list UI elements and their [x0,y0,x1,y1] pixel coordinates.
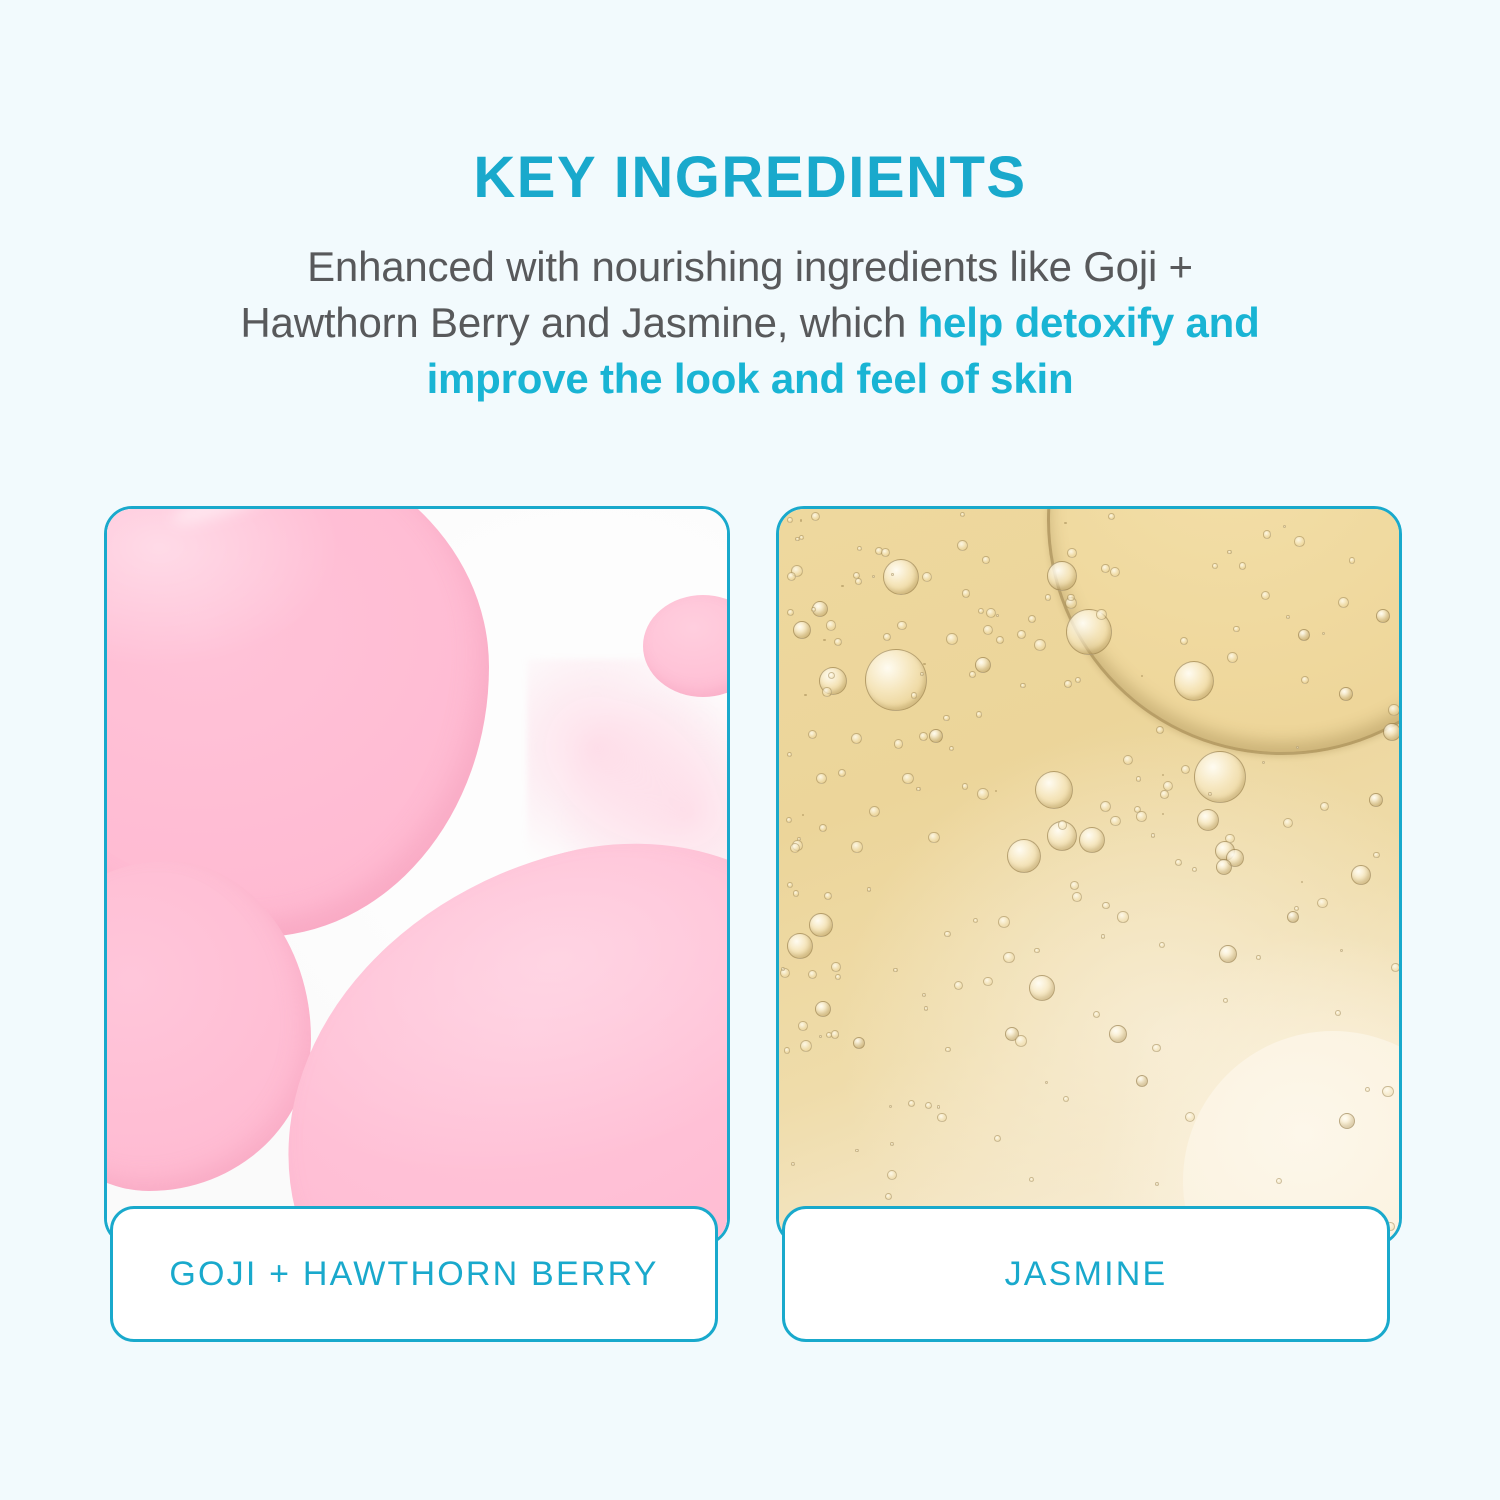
oil-bubble [1339,687,1353,701]
oil-bubble [1383,723,1399,741]
oil-bubble-micro [1100,801,1111,812]
oil-bubble-micro [894,739,904,749]
oil-bubble [1197,809,1219,831]
oil-bubble-micro [1067,594,1074,601]
oil-bubble-micro [977,788,989,800]
oil-bubble-micro [1070,881,1079,890]
ingredient-label-text: JASMINE [1005,1255,1168,1294]
oil-bubble-micro [831,962,841,972]
oil-bubble-micro [1017,630,1026,639]
oil-bubble-micro [919,732,928,741]
oil-bubble-micro [973,918,979,924]
oil-bubble-micro [928,832,939,843]
oil-bubble-micro [1286,615,1290,619]
oil-bubble [1369,793,1383,807]
oil-bubble-micro [944,931,951,938]
jasmine-image [779,509,1399,1243]
oil-bubble-micro [798,1021,808,1031]
oil-bubble-micro [1320,802,1329,811]
oil-bubble-micro [811,512,820,521]
oil-bubble-micro [1102,902,1110,910]
oil-bubble-micro [851,841,863,853]
oil-bubble-micro [1225,834,1235,844]
oil-bubble [1029,975,1055,1001]
oil-bubble-micro [893,968,898,973]
ingredient-card-jasmine[interactable] [776,506,1402,1246]
oil-bubble-micro [983,625,993,635]
subtitle: Enhanced with nourishing ingredients lik… [170,209,1330,407]
oil-bubble-micro [1117,911,1129,923]
oil-bubble-micro [1003,952,1015,964]
oil-bubble-micro [811,607,816,612]
oil-bubble [1287,911,1299,923]
goji-hawthorn-berry-image [107,509,727,1243]
oil-bubble-micro [1064,522,1066,524]
oil-bubble-micro [1335,1010,1341,1016]
oil-bubble-micro [841,585,843,587]
oil-bubble [1219,945,1237,963]
oil-bubble-micro [982,556,989,563]
oil-bubble-micro [784,1047,791,1054]
oil-bubble-micro [925,1102,932,1109]
oil-bubble-micro [790,843,800,853]
oil-bubble-micro [1391,963,1399,972]
oil-bubble [865,649,927,711]
oil-bubble-micro [908,1100,915,1107]
key-ingredients-panel: KEY INGREDIENTS Enhanced with nourishing… [0,0,1500,1500]
oil-bubble-micro [1151,833,1156,838]
oil-bubble-micro [1296,746,1299,749]
oil-bubble-micro [1388,704,1399,716]
oil-bubble-micro [1227,550,1232,555]
oil-bubble [1298,629,1310,641]
oil-bubble-micro [969,671,976,678]
oil-bubble [975,657,991,673]
oil-bubble [1079,827,1105,853]
oil-bubble-micro [786,817,792,823]
oil-bubble [1174,661,1214,701]
oil-bubble [809,913,833,937]
oil-bubble-micro [976,711,983,718]
oil-bubble-micro [1096,609,1107,620]
oil-bubble-micro [791,1162,795,1166]
oil-bubble-micro [946,633,958,645]
oil-bubble-micro [1067,548,1077,558]
header: KEY INGREDIENTS Enhanced with nourishing… [0,0,1500,406]
oil-bubble [1047,561,1077,591]
oil-bubble-micro [819,1035,822,1038]
oil-bubble [1376,609,1390,623]
oil-bubble-micro [996,614,999,617]
oil-bubble-micro [1160,790,1169,799]
oil-bubble [853,1037,865,1049]
oil-bubble-micro [983,977,993,987]
oil-bubble-micro [1294,906,1299,911]
oil-bubble [1007,839,1041,873]
oil-bubble-micro [1034,639,1046,651]
oil-bubble-micro [1110,567,1120,577]
oil-bubble-micro [800,519,803,522]
oil-bubble-micro [1185,1112,1195,1122]
oil-bubble-micro [1233,626,1240,633]
oil-bubble [815,1001,831,1017]
oil-bubble-micro [945,1047,951,1053]
oil-bubble [1136,1075,1148,1087]
oil-bubble-micro [1020,683,1025,688]
oil-bubble-micro [902,773,913,784]
oil-bubble-micro [1075,677,1081,683]
oil-bubble [1339,1113,1355,1129]
oil-bubble-micro [995,790,997,792]
oil-bubble [883,559,919,595]
oil-bubble-micro [1152,1044,1160,1052]
subtitle-line-1: Enhanced with nourishing ingredients lik… [307,243,1193,290]
oil-bubble-micro [885,1193,892,1200]
oil-bubble-micro [1108,513,1115,520]
oil-bubble-micro [1212,563,1218,569]
oil-bubble-micro [822,687,832,697]
oil-bubble-micro [962,589,971,598]
oil-bubble-micro [804,694,806,696]
oil-bubble [787,933,813,959]
oil-bubble-micro [1382,1086,1393,1097]
oil-bubble [1109,1025,1127,1043]
oil-bubble-micro [1175,859,1182,866]
oil-bubble [1035,771,1073,809]
oil-bubble-micro [787,609,794,616]
page-title: KEY INGREDIENTS [0,0,1500,209]
ingredient-label-text: GOJI + HAWTHORN BERRY [169,1255,658,1294]
oil-bubble [1351,865,1371,885]
oil-bubble-micro [1349,557,1355,563]
subtitle-line-2: Hawthorn Berry and Jasmine, which [240,299,917,346]
ingredient-card-goji-hawthorn-berry[interactable] [104,506,730,1246]
oil-bubble-micro [1192,867,1197,872]
oil-bubble-micro [916,787,921,792]
oil-bubble [1194,751,1246,803]
oil-bubble-micro [1223,998,1228,1003]
oil-bubble-micro [1058,820,1068,830]
oil-bubble-micro [1294,536,1305,547]
oil-bubble-micro [1263,530,1271,538]
oil-bubble-micro [857,546,862,551]
oil-bubble-micro [823,639,826,642]
oil-bubble-micro [1072,892,1082,902]
ingredient-label-jasmine: JASMINE [782,1206,1390,1342]
oil-bubble-micro [1110,816,1121,827]
oil-bubble-micro [867,887,871,891]
oil-bubble-micro [1045,594,1051,600]
oil-bubble [1216,859,1232,875]
ingredient-label-goji-hawthorn-berry: GOJI + HAWTHORN BERRY [110,1206,718,1342]
oil-bubble-micro [943,715,950,722]
oil-bubble [793,621,811,639]
oil-bubble-micro [828,672,835,679]
oil-bubble-micro [1338,597,1349,608]
oil-bubble-micro [924,1006,929,1011]
oil-bubble-micro [816,773,827,784]
oil-bubble-micro [911,692,918,699]
oil-bubble-micro [962,783,969,790]
oil-bubble-micro [1163,781,1174,792]
oil-bubble-micro [869,806,880,817]
ingredient-card-list: GOJI + HAWTHORN BERRY JASMINE [104,506,1396,1342]
oil-bubble-micro [897,621,907,631]
oil-bubble-micro [922,572,932,582]
oil-bubble [929,729,943,743]
oil-bubble-micro [937,1113,947,1123]
oil-bubble-micro [1256,955,1261,960]
oil-bubble-micro [1064,680,1072,688]
oil-bubble-micro [1101,564,1110,573]
oil-bubble-micro [800,1040,812,1052]
